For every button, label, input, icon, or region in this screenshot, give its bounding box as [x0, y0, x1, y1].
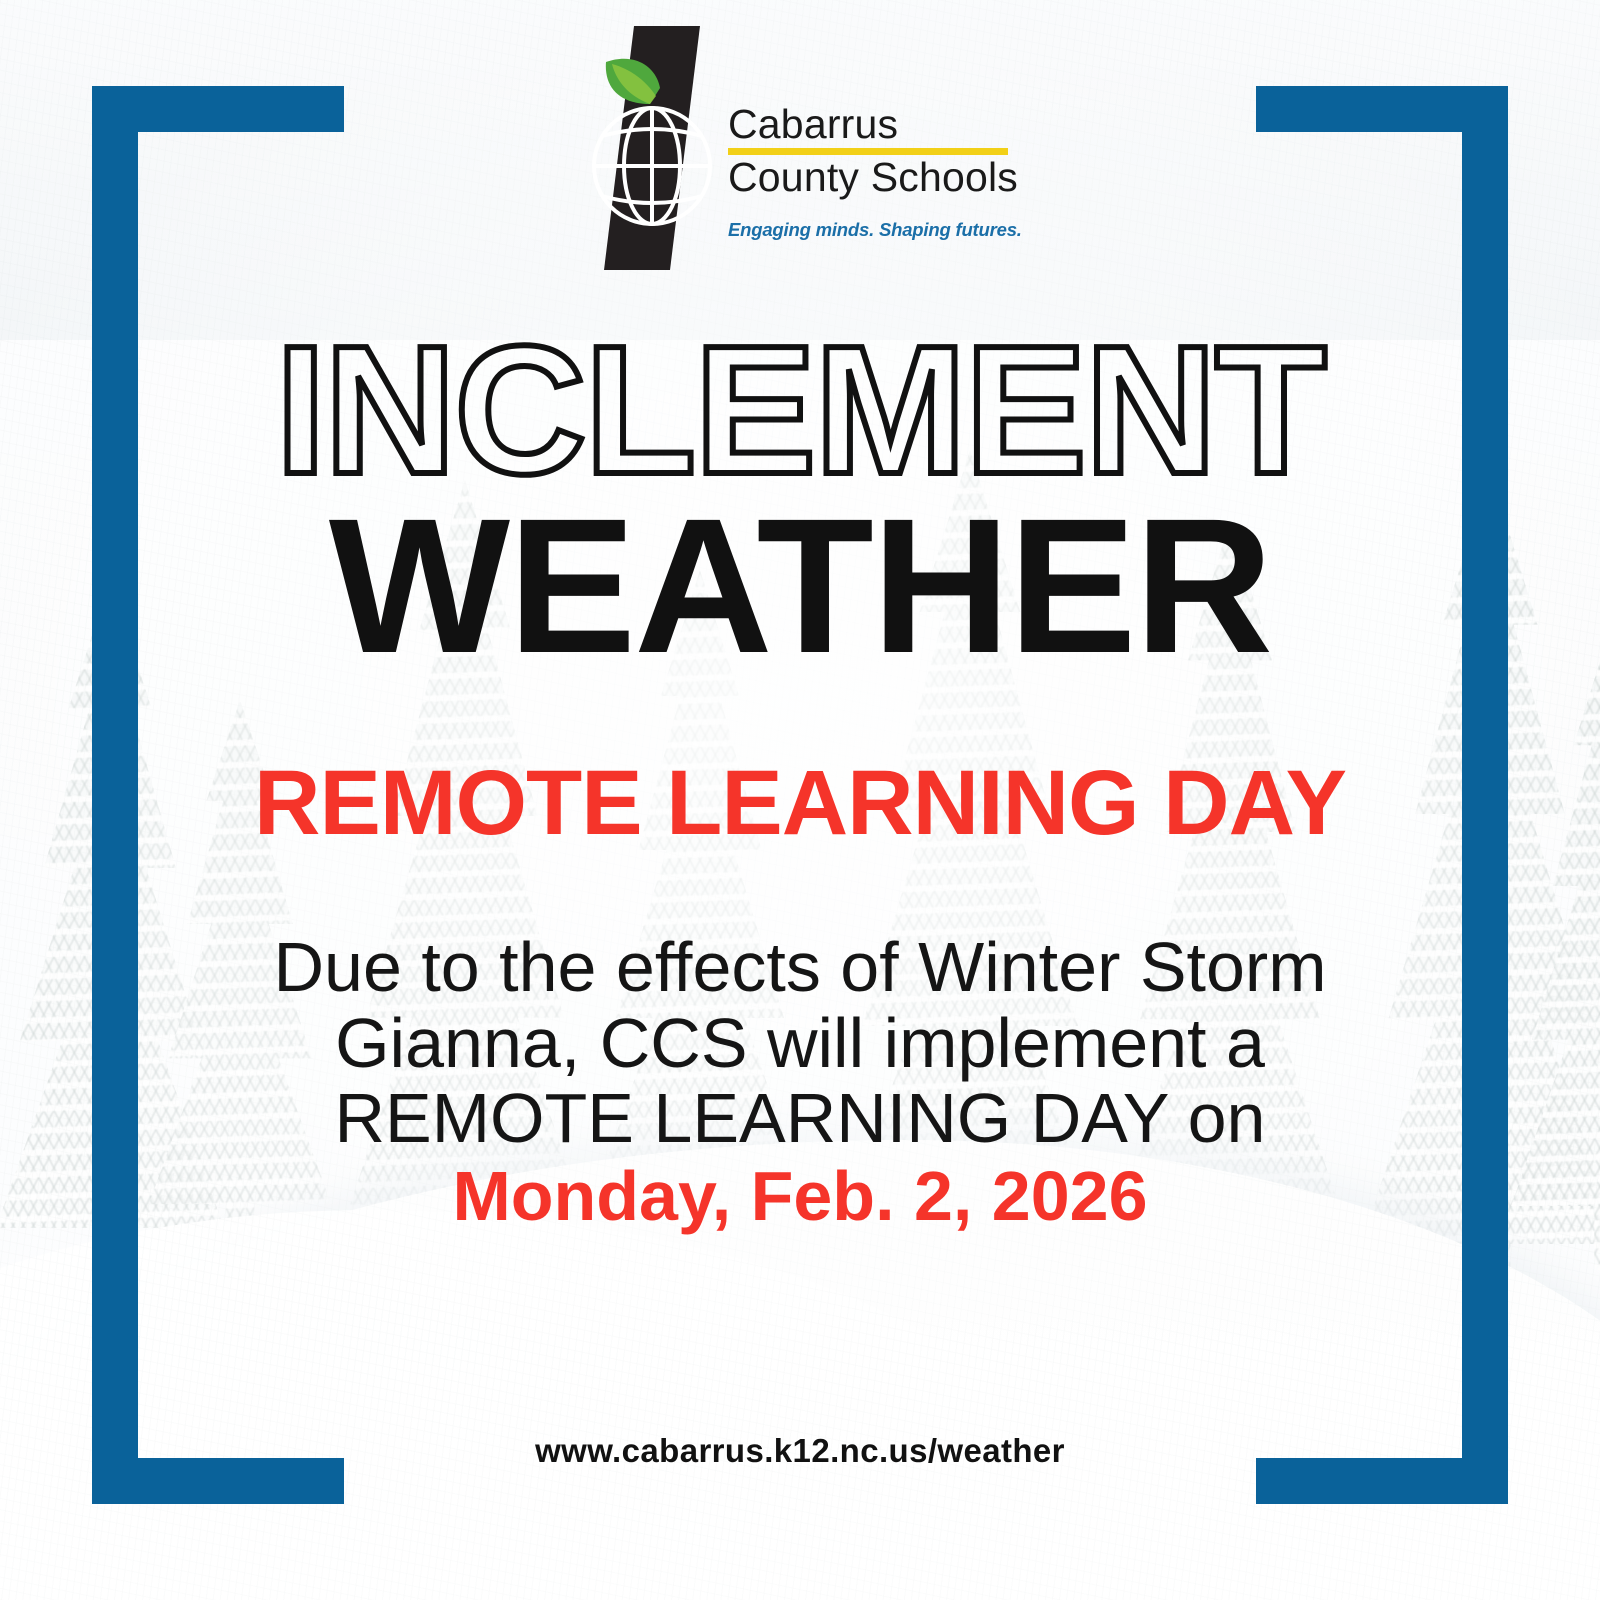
- website-url[interactable]: www.cabarrus.k12.nc.us/weather: [0, 1432, 1600, 1470]
- body-paragraph-block: Due to the effects of Winter Storm Giann…: [220, 930, 1380, 1234]
- bracket-arm-top: [92, 86, 344, 132]
- logo-name-line2: County Schools: [728, 157, 1010, 199]
- subheadline-remote-learning-day: REMOTE LEARNING DAY: [0, 757, 1600, 849]
- logo-tagline: Engaging minds. Shaping futures.: [728, 219, 1010, 241]
- logo-name-line1: Cabarrus: [728, 104, 1010, 146]
- body-paragraph: Due to the effects of Winter Storm Giann…: [273, 928, 1326, 1157]
- bracket-arm-top: [1256, 86, 1508, 132]
- inclement-weather-poster: Cabarrus County Schools Engaging minds. …: [0, 0, 1600, 1600]
- headline-weather: WEATHER: [0, 490, 1600, 682]
- logo-wordmark: Cabarrus County Schools Engaging minds. …: [728, 104, 1010, 241]
- remote-learning-date: Monday, Feb. 2, 2026: [220, 1159, 1380, 1235]
- logo-mark-icon: [590, 26, 714, 270]
- globe-grid-icon: [594, 108, 710, 224]
- headline-inclement: INCLEMENT: [0, 318, 1600, 501]
- cabarrus-county-schools-logo: Cabarrus County Schools Engaging minds. …: [590, 26, 1010, 276]
